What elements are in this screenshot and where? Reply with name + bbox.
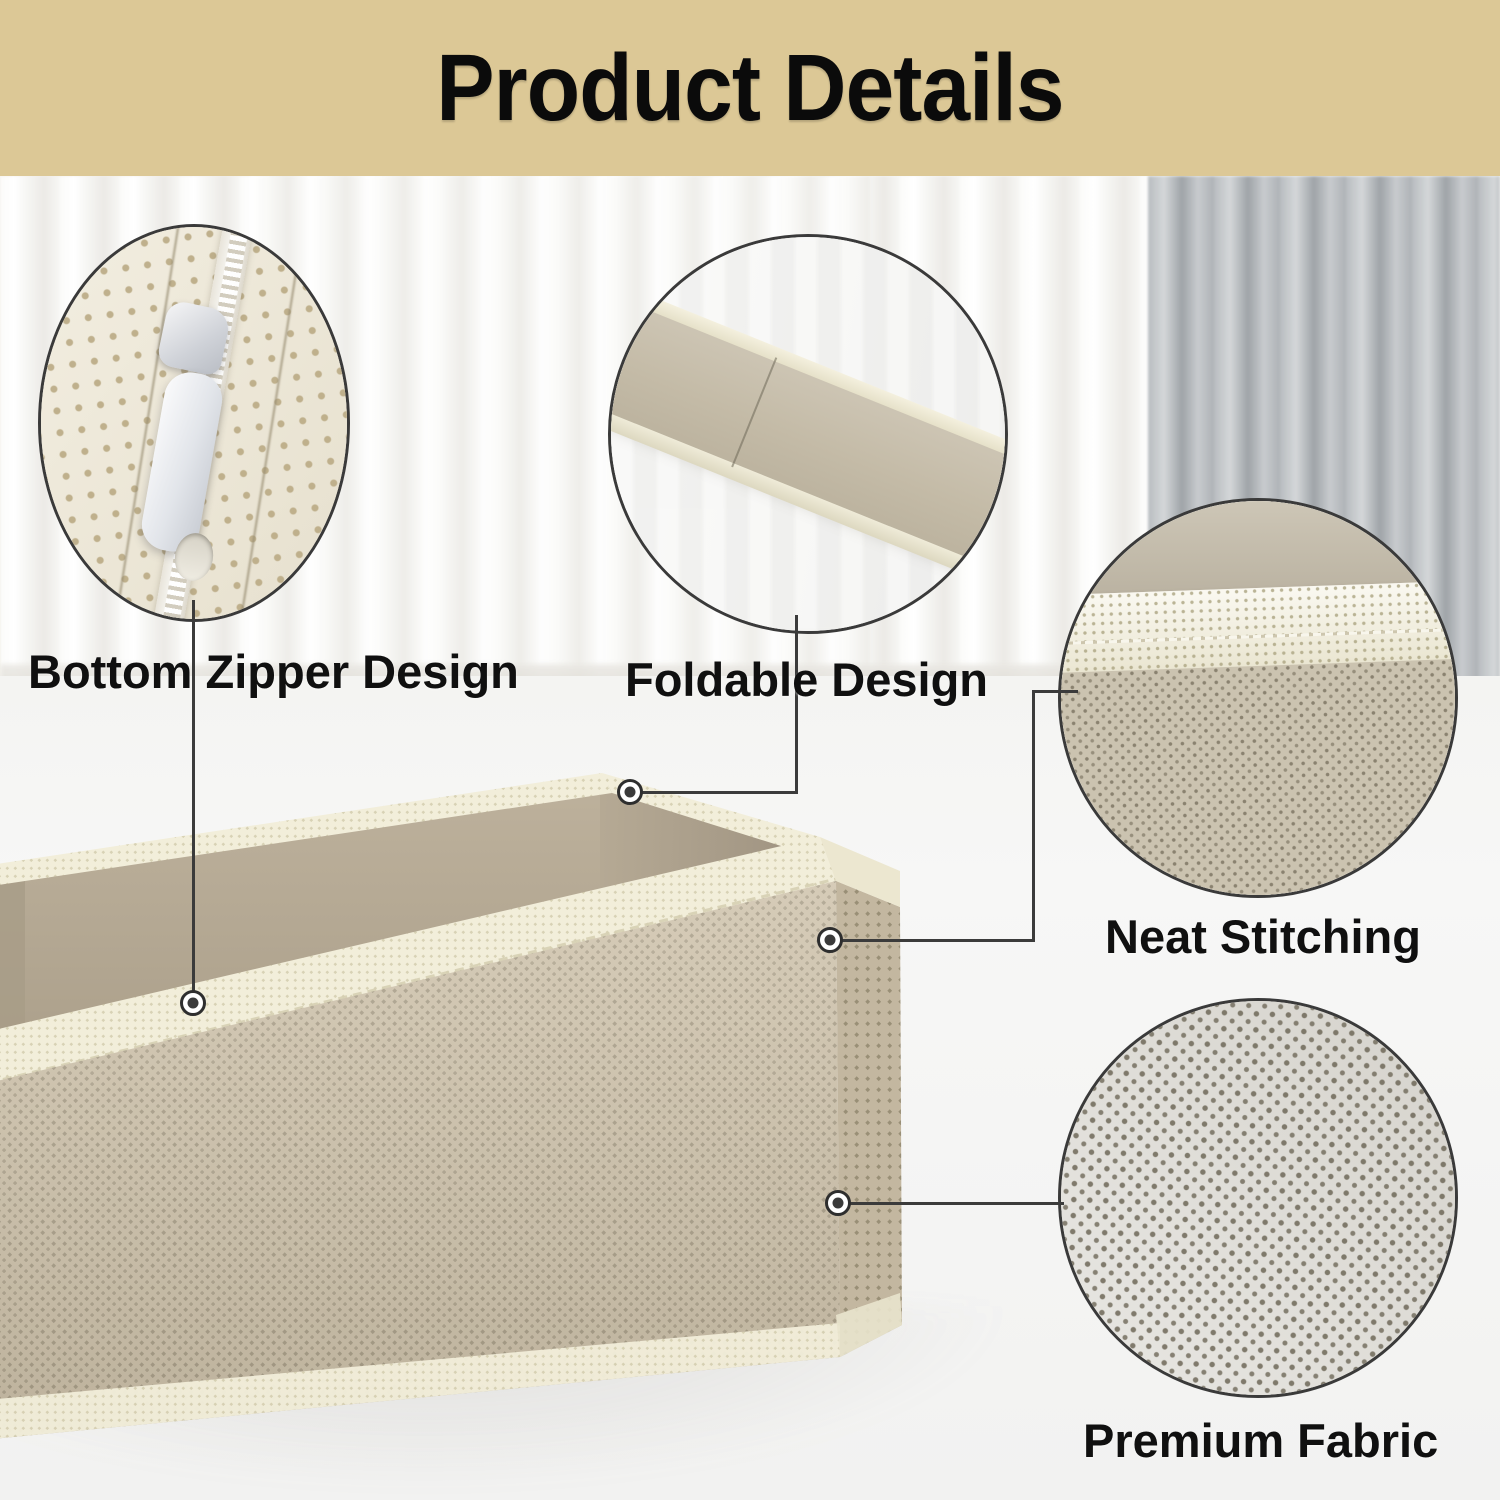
callout-circle-foldable bbox=[608, 234, 1008, 634]
dotted-fabric-body bbox=[1058, 659, 1458, 898]
callout-dot-foldable bbox=[617, 779, 643, 805]
callout-circle-bottom-zipper bbox=[38, 224, 350, 622]
callout-dot-neat-stitching bbox=[817, 927, 843, 953]
storage-bin bbox=[0, 745, 1000, 1445]
leader-line-stitching-vertical bbox=[1032, 690, 1035, 942]
callout-circle-neat-stitching bbox=[1058, 498, 1458, 898]
stitching-detail-texture bbox=[1061, 501, 1455, 895]
premium-fabric-texture bbox=[1058, 998, 1458, 1398]
leader-line-stitching-top bbox=[1032, 690, 1078, 693]
header-banner: Product Details bbox=[0, 0, 1500, 176]
callout-label-bottom-zipper: Bottom Zipper Design bbox=[28, 648, 519, 695]
callout-label-neat-stitching: Neat Stitching bbox=[1105, 913, 1421, 960]
callout-dot-bottom-zipper bbox=[180, 990, 206, 1016]
page-title: Product Details bbox=[436, 41, 1063, 136]
product-details-infographic: Product Details Bottom Zipper Design Fol… bbox=[0, 0, 1500, 1500]
leader-line-premium-fabric bbox=[846, 1202, 1064, 1205]
leader-line-foldable-horizontal bbox=[630, 791, 798, 794]
callout-circle-premium-fabric bbox=[1058, 998, 1458, 1398]
callout-label-premium-fabric: Premium Fabric bbox=[1083, 1417, 1438, 1464]
callout-dot-premium-fabric bbox=[825, 1190, 851, 1216]
leader-line-stitching-horizontal bbox=[830, 939, 1035, 942]
callout-label-foldable: Foldable Design bbox=[625, 656, 988, 703]
